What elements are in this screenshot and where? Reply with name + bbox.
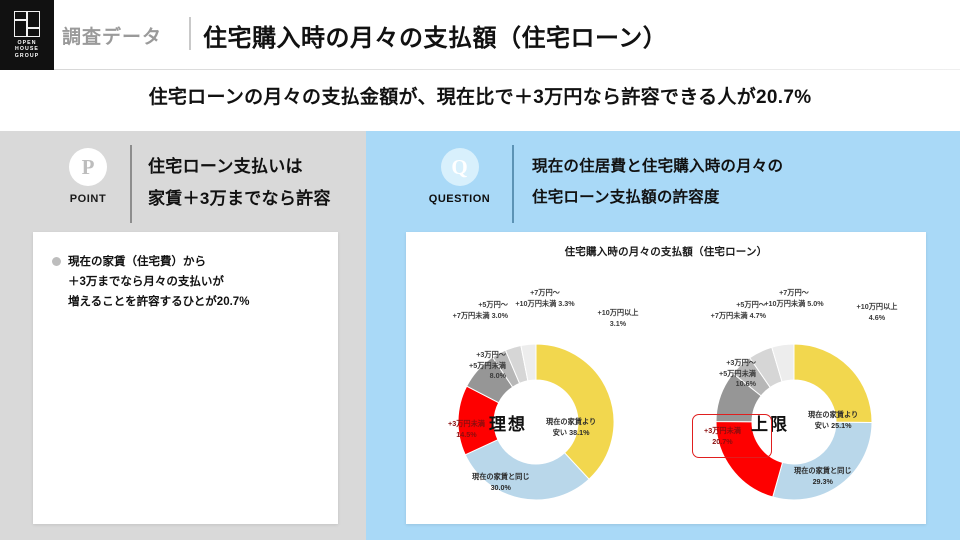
donut-ideal-center-label: 理想 <box>378 410 638 435</box>
point-vertical-divider <box>130 145 132 223</box>
limit-label-blue: 現在の家賃と同じ 29.3% <box>794 466 852 487</box>
point-header: P POINT 住宅ローン支払いは 家賃＋3万までなら許容 <box>38 145 378 225</box>
point-bullet: 現在の家賃（住宅費）から ＋3万までなら月々の支払いが 増えることを許容するひと… <box>52 252 324 312</box>
point-headline-line2: 家賃＋3万までなら許容 <box>148 183 331 215</box>
slide-root: OPEN HOUSE GROUP 調査データ 住宅購入時の月々の支払額（住宅ロー… <box>0 0 960 540</box>
question-badge-letter: Q <box>441 148 479 186</box>
point-bullet-line1: 現在の家賃（住宅費）から <box>68 252 324 272</box>
question-badge-label: QUESTION <box>407 193 512 205</box>
point-headline: 住宅ローン支払いは 家賃＋3万までなら許容 <box>148 151 331 215</box>
question-headline: 現在の住居費と住宅購入時の月々の 住宅ローン支払額の許容度 <box>532 151 783 213</box>
question-badge: Q QUESTION <box>407 148 512 205</box>
page-title: 住宅購入時の月々の支払額（住宅ローン） <box>203 18 667 53</box>
point-bullet-line2: ＋3万までなら月々の支払いが <box>68 272 324 292</box>
chart-card: 住宅購入時の月々の支払額（住宅ローン） 理想 現在の家賃より 安い 38.1% … <box>406 232 926 524</box>
limit-label-dark-gray: +3万円〜 +5万円未満 10.6% <box>672 358 756 390</box>
point-badge: P POINT <box>38 148 138 205</box>
logo-mark-icon <box>14 11 40 37</box>
brand-logo: OPEN HOUSE GROUP <box>0 0 54 70</box>
question-headline-line2: 住宅ローン支払額の許容度 <box>532 182 783 213</box>
limit-label-pale-gray: +10万円以上 4.6% <box>834 302 920 323</box>
lead-statement: 住宅ローンの月々の支払金額が、現在比で＋3万円なら許容できる人が20.7% <box>0 82 960 109</box>
point-bullet-text: 現在の家賃（住宅費）から ＋3万までなら月々の支払いが 増えることを許容するひと… <box>68 252 324 312</box>
point-panel: P POINT 住宅ローン支払いは 家賃＋3万までなら許容 現在の家賃（住宅費）… <box>0 131 393 540</box>
point-bullet-line3: 増えることを許容するひとが20.7% <box>68 292 324 312</box>
header-kicker: 調査データ <box>62 22 162 49</box>
bullet-dot-icon <box>52 257 61 266</box>
header-divider <box>189 17 191 50</box>
ideal-label-blue: 現在の家賃と同じ 30.0% <box>472 472 530 493</box>
ideal-label-red: +3万円未満 14.5% <box>448 419 485 440</box>
question-panel: Q QUESTION 現在の住居費と住宅購入時の月々の 住宅ローン支払額の許容度… <box>366 131 960 540</box>
point-badge-label: POINT <box>38 193 138 205</box>
question-headline-line1: 現在の住居費と住宅購入時の月々の <box>532 151 783 182</box>
ideal-label-yellow: 現在の家賃より 安い 38.1% <box>546 417 596 438</box>
point-headline-line1: 住宅ローン支払いは <box>148 151 331 183</box>
limit-label-yellow: 現在の家賃より 安い 25.1% <box>808 410 858 431</box>
ideal-label-light-gray: +7万円〜 +10万円未満 3.3% <box>490 288 600 309</box>
point-detail-card: 現在の家賃（住宅費）から ＋3万までなら月々の支払いが 増えることを許容するひと… <box>33 232 338 524</box>
ideal-label-dark-gray: +3万円〜 +5万円未満 8.0% <box>422 350 506 382</box>
donut-chart-ideal: 理想 現在の家賃より 安い 38.1% 現在の家賃と同じ 30.0% +3万円未… <box>406 232 666 524</box>
highlight-box-20-7 <box>692 414 772 458</box>
question-header: Q QUESTION 現在の住居費と住宅購入時の月々の 住宅ローン支払額の許容度 <box>407 145 947 225</box>
header-rule <box>54 69 960 70</box>
question-vertical-divider <box>512 145 514 223</box>
ideal-label-pale-gray: +10万円以上 3.1% <box>576 308 660 329</box>
point-badge-letter: P <box>69 148 107 186</box>
donut-chart-limit: 上限 現在の家賃より 安い 25.1% 現在の家賃と同じ 29.3% +3万円未… <box>666 232 926 524</box>
logo-text-group: GROUP <box>15 53 40 59</box>
page-header: OPEN HOUSE GROUP 調査データ 住宅購入時の月々の支払額（住宅ロー… <box>0 0 960 70</box>
